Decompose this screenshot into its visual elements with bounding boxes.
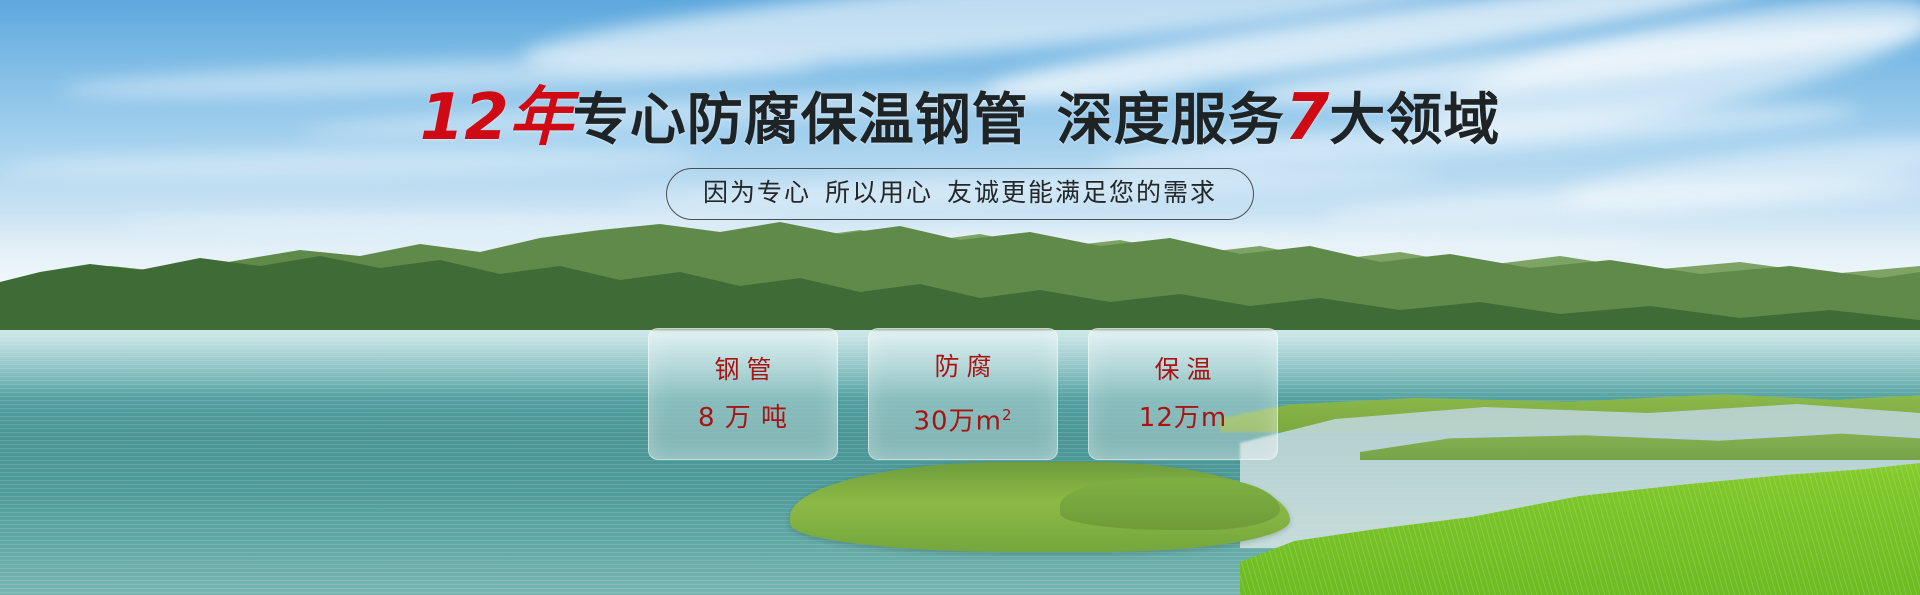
headline-years-suffix: 年 — [509, 81, 573, 155]
stat-card-value-text: 30万m — [914, 406, 1002, 436]
stat-card-value-text: 12万m — [1139, 403, 1227, 433]
subtitle-part-1: 因为专心 — [703, 178, 811, 207]
stat-card-value-text: 8 万 吨 — [698, 403, 788, 433]
headline-service-text: 深度服务 — [1057, 88, 1285, 153]
stat-card-value: 30万m2 — [914, 400, 1013, 437]
banner-content: 12年专心防腐保温钢管深度服务7大领域 因为专心所以用心友诚更能满足您的需求 钢… — [0, 0, 1920, 595]
headline-years-number: 12 — [420, 81, 509, 155]
hero-banner: 12年专心防腐保温钢管深度服务7大领域 因为专心所以用心友诚更能满足您的需求 钢… — [0, 0, 1920, 595]
stat-card-value-superscript: 2 — [1002, 406, 1013, 424]
stat-card-title: 保温 — [1147, 355, 1218, 385]
subtitle-part-3: 友诚更能满足您的需求 — [947, 178, 1217, 207]
stat-card-group: 钢管 8 万 吨 防腐 30万m2 保温 12万m — [648, 328, 1278, 460]
banner-subtitle-wrapper: 因为专心所以用心友诚更能满足您的需求 — [0, 168, 1920, 220]
subtitle-part-2: 所以用心 — [825, 178, 933, 207]
stat-card-insulation: 保温 12万m — [1088, 328, 1278, 460]
stat-card-value: 8 万 吨 — [698, 403, 788, 433]
banner-headline: 12年专心防腐保温钢管深度服务7大领域 — [0, 86, 1920, 153]
stat-card-anticorrosion: 防腐 30万m2 — [868, 328, 1058, 460]
stat-card-title: 防腐 — [927, 352, 998, 382]
headline-fields-suffix: 大领域 — [1329, 88, 1500, 153]
stat-card-steel-pipe: 钢管 8 万 吨 — [648, 328, 838, 460]
headline-main-text: 专心防腐保温钢管 — [573, 88, 1029, 153]
stat-card-value: 12万m — [1139, 403, 1227, 433]
headline-fields-number: 7 — [1285, 81, 1330, 155]
banner-subtitle-pill: 因为专心所以用心友诚更能满足您的需求 — [666, 168, 1254, 220]
stat-card-title: 钢管 — [707, 355, 778, 385]
